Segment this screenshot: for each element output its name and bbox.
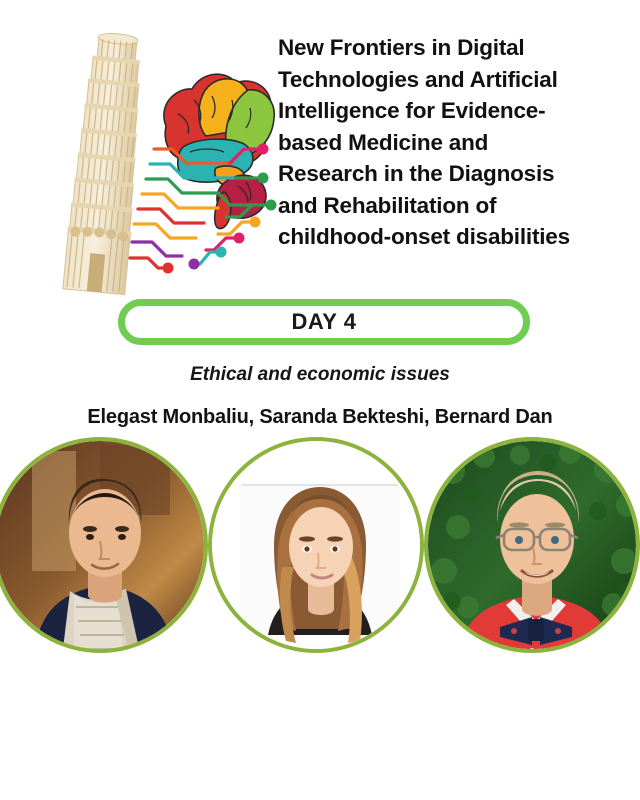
speaker-photo-elegast-monbaliu — [0, 441, 204, 649]
title-line-4: based Medicine and — [278, 127, 626, 159]
speakers-names-line: Elegast Monbaliu, Saranda Bekteshi, Bern… — [0, 406, 640, 429]
poster-subtitle: Ethical and economic issues — [0, 364, 640, 386]
footer-logo-bar: 1343 IN SUPREMÆ DIGNITATIS Università di… — [0, 737, 640, 800]
title-line-1: New Frontiers in Digital — [278, 32, 626, 64]
poster-canvas: New Frontiers in Digital Technologies an… — [0, 0, 640, 800]
brain-circuit-illustration — [120, 52, 290, 292]
poster-header: New Frontiers in Digital Technologies an… — [0, 0, 640, 300]
speaker-portrait-2 — [208, 437, 424, 653]
speaker-photo-saranda-bekteshi — [212, 441, 420, 649]
poster-title: New Frontiers in Digital Technologies an… — [278, 32, 626, 253]
speaker-portraits — [0, 432, 640, 737]
speaker-portrait-3 — [424, 437, 640, 653]
title-line-2: Technologies and Artificial — [278, 64, 626, 96]
speaker-portrait-1 — [0, 437, 208, 653]
day-badge-label: DAY 4 — [292, 309, 357, 335]
speaker-photo-bernard-dan — [428, 441, 636, 649]
day-badge: DAY 4 — [118, 299, 530, 345]
title-line-6: and Rehabilitation of — [278, 190, 626, 222]
title-line-7: childhood-onset disabilities — [278, 221, 626, 253]
title-line-5: Research in the Diagnosis — [278, 158, 626, 190]
title-line-3: Intelligence for Evidence- — [278, 95, 626, 127]
